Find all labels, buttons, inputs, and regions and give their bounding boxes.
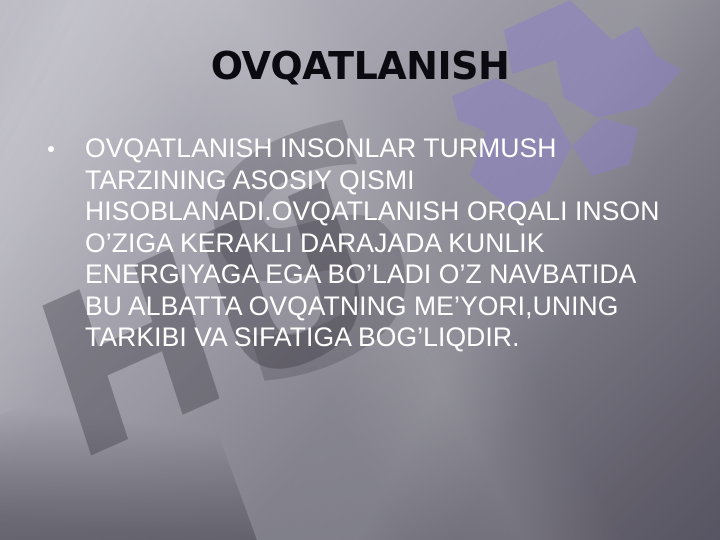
bullet-item-text: OVQATLANISH INSONLAR TURMUSH TARZINING A…	[85, 133, 708, 354]
bullet-marker-icon	[48, 146, 54, 152]
page-title: OVQATLANISH	[0, 44, 720, 88]
bullet-list: OVQATLANISH INSONLAR TURMUSH TARZINING A…	[48, 133, 708, 354]
presentation-slide: S HU OVQATLANISH OVQATLANISH INSONLAR TU…	[0, 0, 720, 540]
background-corner-wedge	[0, 347, 275, 540]
